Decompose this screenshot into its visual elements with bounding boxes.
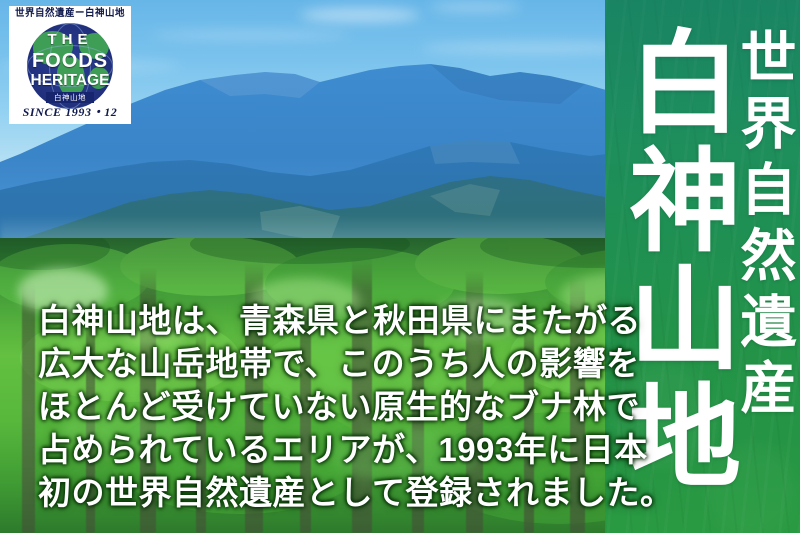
cloud bbox=[300, 8, 420, 22]
logo-word-foods: FOODS bbox=[9, 51, 131, 71]
logo-word-heritage: HERITAGE bbox=[9, 73, 131, 89]
description-line-4: 占められているエリアが、1993年に日本 bbox=[38, 428, 598, 471]
description-line-2: 広大な山岳地帯で、このうち人の影響を bbox=[38, 342, 598, 385]
logo-word-the: THE bbox=[9, 32, 131, 47]
description-text: 白神山地は、青森県と秋田県にまたがる 広大な山岳地帯で、このうち人の影響を ほと… bbox=[38, 299, 598, 514]
panel-title-main: 白神山地 bbox=[618, 24, 730, 496]
tree-trunk bbox=[22, 283, 35, 533]
logo-since-text: SINCE 1993・12 bbox=[9, 106, 131, 118]
description-line-1: 白神山地は、青森県と秋田県にまたがる bbox=[38, 299, 598, 342]
cloud bbox=[150, 30, 350, 40]
banner-image: 白神山地 世界自然遺産 世界自然遺産ー白神山地 THE FOODS HERITA… bbox=[0, 0, 800, 533]
cloud bbox=[430, 2, 520, 12]
logo-arc-top-text: 世界自然遺産ー白神山地 bbox=[9, 9, 131, 19]
foods-heritage-logo[interactable]: 世界自然遺産ー白神山地 THE FOODS HERITAGE 白神山地 SINC… bbox=[9, 6, 131, 124]
description-line-3: ほとんど受けていない原生的なブナ林で bbox=[38, 385, 598, 428]
description-line-5: 初の世界自然遺産として登録されました。 bbox=[38, 471, 598, 514]
logo-tag-label: 白神山地 bbox=[46, 92, 94, 103]
panel-title-sub: 世界自然遺産 bbox=[735, 28, 791, 424]
